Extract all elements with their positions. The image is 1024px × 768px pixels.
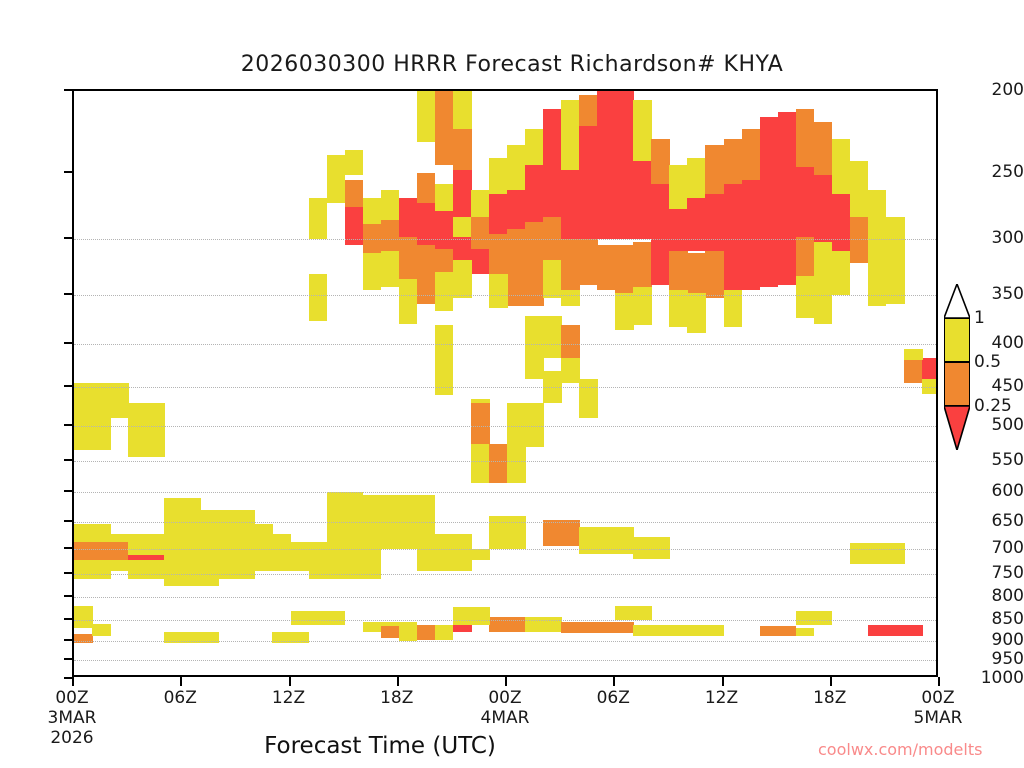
colorbar-arrow-down xyxy=(944,406,970,450)
y-tick-mark xyxy=(64,658,72,660)
y-tick-label: 900 xyxy=(962,630,1024,650)
y-tick-label: 750 xyxy=(962,563,1024,583)
y-tick-mark xyxy=(64,342,72,344)
colorbar-segment xyxy=(944,362,970,406)
x-tick-date-label: 5MAR xyxy=(893,708,983,728)
x-axis-title: Forecast Time (UTC) xyxy=(0,733,760,759)
gridline-horizontal xyxy=(74,549,936,550)
gridline-horizontal xyxy=(74,295,936,296)
y-tick-label: 850 xyxy=(962,609,1024,629)
colorbar-tick-label: 0.5 xyxy=(974,352,1001,372)
x-tick-mark xyxy=(830,677,832,686)
gridline-horizontal xyxy=(74,597,936,598)
y-tick-mark xyxy=(64,595,72,597)
y-tick-mark xyxy=(64,490,72,492)
y-tick-mark xyxy=(64,89,72,91)
y-tick-label: 450 xyxy=(962,376,1024,396)
x-tick-mark xyxy=(722,677,724,686)
x-tick-mark xyxy=(180,677,182,686)
plot-area xyxy=(72,89,938,677)
gridline-horizontal xyxy=(74,620,936,621)
gridline-horizontal xyxy=(74,660,936,661)
y-tick-label: 400 xyxy=(962,333,1024,353)
y-tick-mark xyxy=(64,171,72,173)
gridline-horizontal xyxy=(74,387,936,388)
colorbar-arrow-up-outline xyxy=(944,284,970,318)
x-tick-label: 18Z xyxy=(357,688,437,708)
x-tick-mark xyxy=(613,677,615,686)
y-tick-label: 300 xyxy=(962,228,1024,248)
y-tick-label: 700 xyxy=(962,538,1024,558)
chart-title: 2026030300 HRRR Forecast Richardson# KHY… xyxy=(0,52,1024,77)
x-tick-label: 06Z xyxy=(140,688,220,708)
y-tick-label: 650 xyxy=(962,511,1024,531)
colorbar-tick-label: 0.25 xyxy=(974,396,1012,416)
y-tick-label: 350 xyxy=(962,284,1024,304)
y-tick-mark xyxy=(64,639,72,641)
colorbar-tick-label: 1 xyxy=(974,308,985,328)
x-tick-date-label: 4MAR xyxy=(460,708,550,728)
x-tick-mark xyxy=(72,677,74,686)
gridline-horizontal xyxy=(74,522,936,523)
gridline-horizontal xyxy=(74,344,936,345)
gridlines xyxy=(74,91,936,675)
gridline-horizontal xyxy=(74,426,936,427)
y-tick-mark xyxy=(64,293,72,295)
x-tick-label: 06Z xyxy=(573,688,653,708)
gridline-horizontal xyxy=(74,492,936,493)
x-tick-mark xyxy=(505,677,507,686)
y-tick-mark xyxy=(64,618,72,620)
y-tick-mark xyxy=(64,572,72,574)
x-tick-label: 00Z xyxy=(465,688,545,708)
y-tick-mark xyxy=(64,677,72,679)
x-tick-label: 18Z xyxy=(790,688,870,708)
y-tick-label: 600 xyxy=(962,481,1024,501)
y-tick-label: 550 xyxy=(962,450,1024,470)
y-tick-mark xyxy=(64,385,72,387)
x-tick-mark xyxy=(938,677,940,686)
y-tick-mark xyxy=(64,520,72,522)
gridline-horizontal xyxy=(74,641,936,642)
x-tick-date-label: 3MAR xyxy=(27,708,117,728)
y-tick-label: 800 xyxy=(962,586,1024,606)
gridline-horizontal xyxy=(74,574,936,575)
y-tick-label: 950 xyxy=(962,649,1024,669)
y-tick-label: 500 xyxy=(962,415,1024,435)
x-tick-label: 00Z xyxy=(898,688,978,708)
y-tick-label: 200 xyxy=(962,80,1024,100)
gridline-horizontal xyxy=(74,461,936,462)
x-tick-mark xyxy=(289,677,291,686)
y-tick-mark xyxy=(64,459,72,461)
x-tick-mark xyxy=(397,677,399,686)
y-tick-label: 250 xyxy=(962,162,1024,182)
y-tick-mark xyxy=(64,424,72,426)
gridline-horizontal xyxy=(74,239,936,240)
y-tick-mark xyxy=(64,547,72,549)
site-watermark: coolwx.com/modelts xyxy=(818,740,982,759)
y-tick-mark xyxy=(64,237,72,239)
x-tick-label: 12Z xyxy=(249,688,329,708)
x-tick-label: 00Z xyxy=(32,688,112,708)
colorbar-segment xyxy=(944,318,970,362)
y-tick-label: 1000 xyxy=(962,668,1024,688)
x-tick-label: 12Z xyxy=(682,688,762,708)
